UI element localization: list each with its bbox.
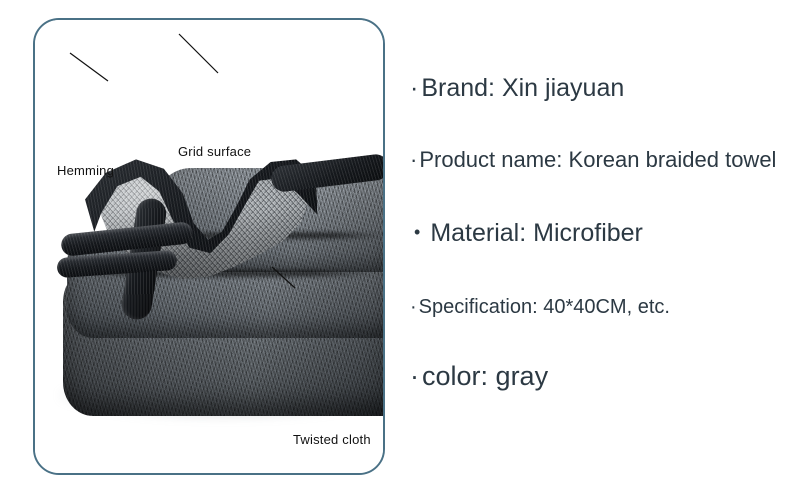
spec-label-brand: Brand: <box>421 74 495 102</box>
spec-row-specification: ·Specification: 40*40CM, etc. <box>410 296 670 319</box>
bullet-icon: • <box>414 222 420 243</box>
spec-row-material: •Material: Microfiber <box>414 219 643 248</box>
spec-label-material: Material: <box>430 219 526 247</box>
bullet-icon: · <box>410 296 417 319</box>
product-infographic: Hemming Grid surface Twisted cloth ·Bran… <box>0 0 791 488</box>
callout-leader-lines <box>35 20 385 475</box>
spec-value-specification: 40*40CM, etc. <box>543 296 670 318</box>
spec-value-brand: Xin jiayuan <box>502 74 624 102</box>
spec-row-product-name: ·Product name: Korean braided towel <box>410 147 776 173</box>
spec-row-brand: ·Brand: Xin jiayuan <box>410 74 624 103</box>
spec-value-material: Microfiber <box>533 219 643 247</box>
spec-value-product-name: Korean braided towel <box>569 147 777 172</box>
bullet-icon: · <box>410 74 418 103</box>
spec-row-color: ·color: gray <box>410 361 548 392</box>
callout-label-twisted-cloth: Twisted cloth <box>293 432 371 447</box>
spec-label-product-name: Product name: <box>419 147 562 172</box>
callout-label-grid-surface: Grid surface <box>178 144 251 159</box>
callout-label-hemming: Hemming <box>57 163 114 178</box>
bullet-icon: · <box>410 147 417 173</box>
spec-value-color: gray <box>496 361 549 391</box>
product-photo-frame: Hemming Grid surface Twisted cloth <box>33 18 385 475</box>
spec-label-specification: Specification: <box>419 296 538 318</box>
spec-label-color: color: <box>422 361 488 391</box>
product-photo: Hemming Grid surface Twisted cloth <box>35 20 383 473</box>
bullet-icon: · <box>410 361 419 392</box>
specification-list: ·Brand: Xin jiayuan ·Product name: Korea… <box>408 0 788 488</box>
